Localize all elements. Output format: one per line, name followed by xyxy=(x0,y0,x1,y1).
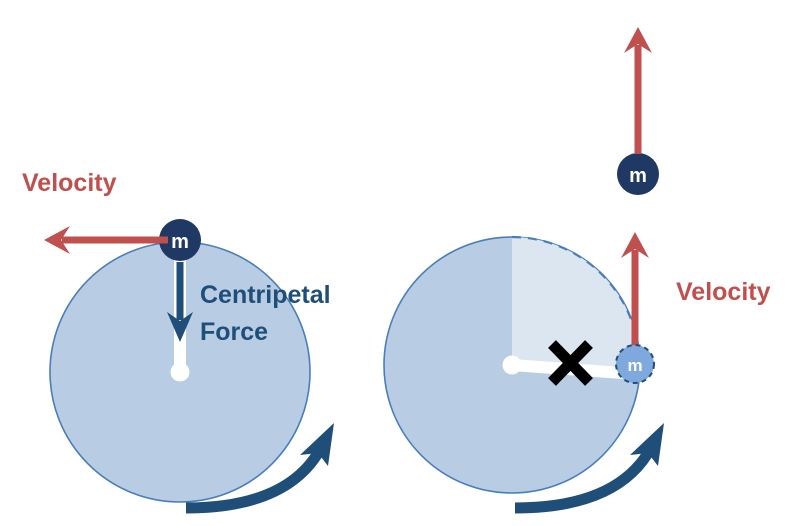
diagram-canvas: m Velocity Centripetal Force xyxy=(0,0,800,526)
right-panel: m Velocity m xyxy=(384,27,771,508)
mass-right-rim: m xyxy=(616,345,654,383)
centripetal-force-label-line1: Centripetal xyxy=(200,281,331,309)
centripetal-force-label-line2: Force xyxy=(200,318,268,346)
mass-label-left: m xyxy=(171,231,189,253)
physics-diagram: m Velocity Centripetal Force xyxy=(0,0,800,526)
escaped-velocity-arrow xyxy=(624,27,652,154)
escaped-mass: m xyxy=(617,153,659,195)
pivot-hub-left xyxy=(171,363,190,382)
velocity-label-left: Velocity xyxy=(22,169,117,197)
velocity-label-right: Velocity xyxy=(676,278,771,306)
left-panel: m Velocity Centripetal Force xyxy=(22,169,334,508)
mass-label-right-rim: m xyxy=(627,356,642,375)
mass-label-escaped: m xyxy=(629,165,647,187)
pivot-hub-right xyxy=(503,356,522,375)
